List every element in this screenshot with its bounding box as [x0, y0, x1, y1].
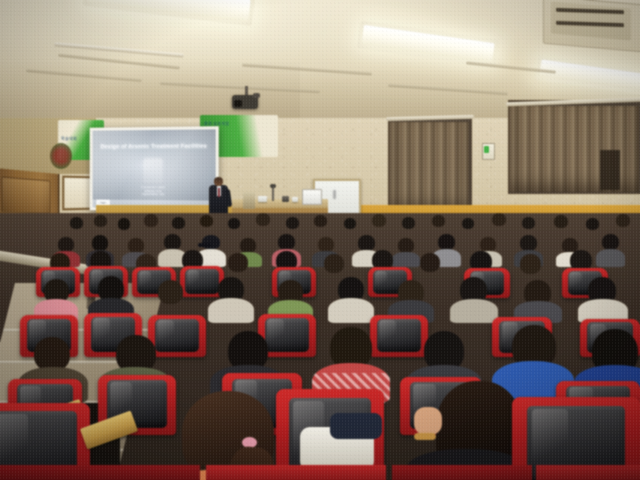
seat-front-edge — [206, 465, 386, 480]
microphone-icon — [270, 184, 276, 188]
projected-slide: Design of Arsenic Treatment Facilities A… — [93, 129, 216, 208]
seat-front-edge — [536, 465, 640, 480]
window-curtains-left[interactable] — [389, 122, 469, 212]
table-equipment — [292, 197, 298, 202]
attendee-head — [158, 280, 183, 304]
confidence-monitor — [302, 189, 322, 205]
projector-bracket — [253, 93, 260, 98]
seat-highlight — [532, 409, 568, 467]
attendee-head — [372, 214, 386, 227]
attendee-head — [492, 213, 506, 226]
microphone-stand — [272, 186, 274, 201]
attendee-head — [314, 215, 327, 227]
attendee-hand — [414, 407, 442, 435]
table-equipment — [258, 196, 267, 202]
wrist-bracelet-icon — [414, 433, 436, 440]
seat-highlight — [0, 414, 28, 468]
framed-notice — [62, 176, 93, 211]
podium — [243, 192, 255, 209]
attendee-head — [616, 214, 630, 227]
projector-lens-icon — [234, 100, 242, 107]
lecture-hall-photo: 학술대회 환경 심포지엄 Design of Arsenic Treatment… — [0, 0, 640, 480]
seat-front-edge — [392, 465, 532, 480]
attendee-head — [94, 215, 107, 227]
screen-glare — [93, 129, 216, 208]
wall-decoration-icon — [50, 143, 72, 169]
attendee-head — [432, 215, 445, 227]
banner-left-text: 학술대회 — [61, 136, 77, 141]
attendee-head — [144, 214, 158, 227]
window-gap-shadow — [600, 150, 620, 190]
door-panel — [2, 176, 51, 213]
wall-switch-indicator-icon — [484, 146, 489, 153]
whiteboard-marking — [333, 190, 336, 199]
table-equipment — [282, 196, 289, 202]
seat-front-edge — [0, 465, 200, 480]
seat-band-front — [0, 465, 640, 480]
attendee-head — [34, 337, 70, 371]
presenter-head — [214, 177, 223, 186]
audience-area — [0, 213, 640, 480]
presenter-tie — [218, 188, 220, 197]
projection-screen: Design of Arsenic Treatment Facilities A… — [90, 126, 219, 212]
navy-bag — [330, 413, 382, 439]
attendee-head — [200, 215, 213, 227]
attendee-head — [256, 213, 270, 226]
